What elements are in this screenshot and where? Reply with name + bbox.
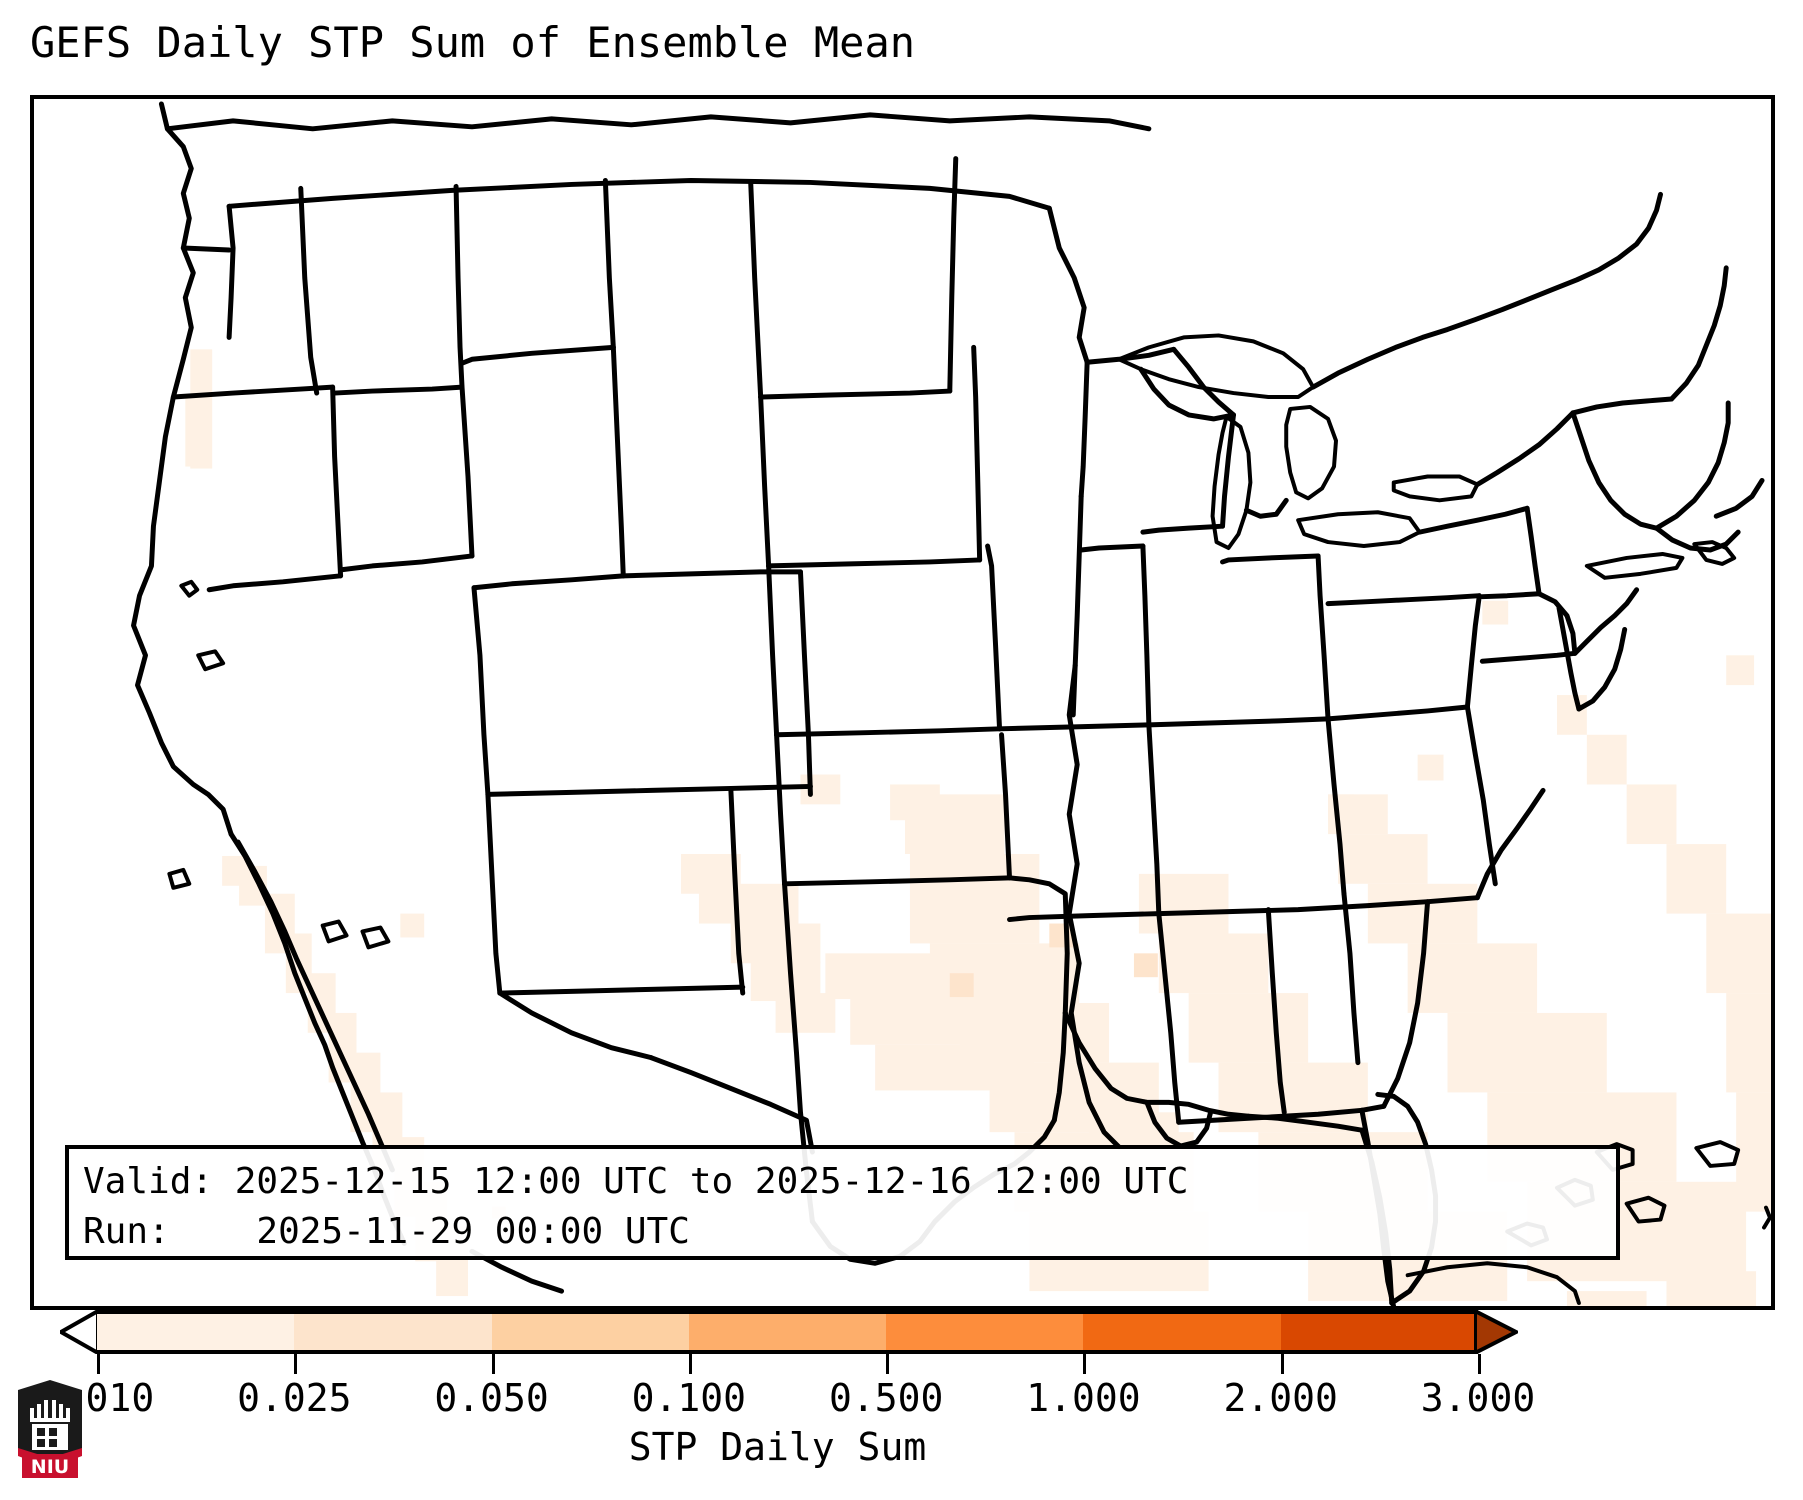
colorbar-band-6 xyxy=(1281,1314,1478,1350)
map-panel xyxy=(30,95,1775,1310)
colorbar-band-1 xyxy=(294,1314,491,1350)
colorbar-ticks xyxy=(60,1354,1515,1376)
colorbar-tick-5 xyxy=(1083,1354,1086,1374)
niu-logo-text: NIU xyxy=(31,1456,69,1478)
colorbar-tick-7 xyxy=(1478,1354,1481,1374)
colorbar-tick-3 xyxy=(689,1354,692,1374)
colorbar-tick-label-4: 0.500 xyxy=(829,1376,943,1420)
colorbar-band-3 xyxy=(689,1314,886,1350)
niu-logo: NIU xyxy=(14,1378,86,1482)
colorbar-under-arrow xyxy=(60,1310,100,1354)
map-canvas xyxy=(34,99,1771,1306)
colorbar-band-0 xyxy=(97,1314,294,1350)
colorbar-bands xyxy=(97,1310,1478,1354)
colorbar-band-5 xyxy=(1083,1314,1280,1350)
forecast-info-box: Valid: 2025-12-15 12:00 UTC to 2025-12-1… xyxy=(65,1145,1620,1260)
colorbar-tick-0 xyxy=(97,1354,100,1374)
basemap-layer xyxy=(34,99,1771,1306)
page-title: GEFS Daily STP Sum of Ensemble Mean xyxy=(30,18,915,67)
colorbar-tick-labels: 0.0100.0250.0500.1000.5001.0002.0003.000 xyxy=(0,1376,1803,1424)
colorbar-tick-1 xyxy=(294,1354,297,1374)
valid-time-line: Valid: 2025-12-15 12:00 UTC to 2025-12-1… xyxy=(83,1157,1602,1207)
colorbar-over-arrow xyxy=(1474,1310,1518,1354)
colorbar-tick-label-1: 0.025 xyxy=(237,1376,351,1420)
run-time-line: Run: 2025-11-29 00:00 UTC xyxy=(83,1207,1602,1257)
colorbar xyxy=(60,1310,1515,1354)
colorbar-tick-label-3: 0.100 xyxy=(632,1376,746,1420)
colorbar-band-4 xyxy=(886,1314,1083,1350)
colorbar-axis-label: STP Daily Sum xyxy=(0,1425,1555,1469)
colorbar-tick-label-5: 1.000 xyxy=(1026,1376,1140,1420)
colorbar-band-2 xyxy=(492,1314,689,1350)
colorbar-tick-label-2: 0.050 xyxy=(434,1376,548,1420)
colorbar-tick-6 xyxy=(1281,1354,1284,1374)
colorbar-tick-2 xyxy=(492,1354,495,1374)
colorbar-tick-label-7: 3.000 xyxy=(1421,1376,1535,1420)
colorbar-tick-4 xyxy=(886,1354,889,1374)
colorbar-tick-label-6: 2.000 xyxy=(1224,1376,1338,1420)
